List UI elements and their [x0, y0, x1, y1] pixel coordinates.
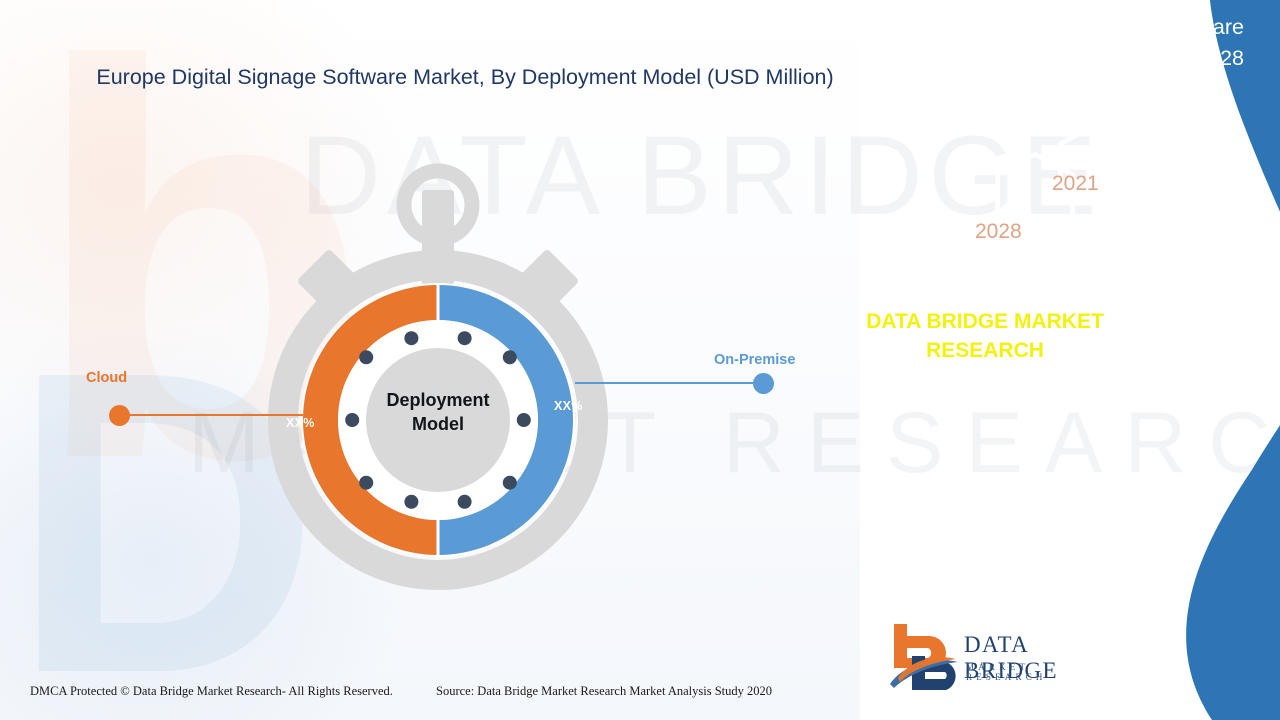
- panel-brand-line2: RESEARCH: [854, 337, 1116, 366]
- right-blue-panel: Europe Digital Signage Software Market, …: [820, 0, 1280, 720]
- footer-source: Source: Data Bridge Market Research Mark…: [436, 684, 772, 699]
- stopwatch-donut-chart: [238, 150, 638, 610]
- callout-label-cloud: Cloud: [86, 370, 127, 386]
- donut-split-bottom: [437, 518, 440, 557]
- on-premise-percent-label: XX%: [554, 399, 583, 413]
- donut-center-label: Deployment Model: [338, 388, 538, 437]
- footer-copyright: DMCA Protected © Data Bridge Market Rese…: [30, 684, 393, 699]
- tick-dot: [503, 350, 517, 364]
- tick-dot: [404, 331, 418, 345]
- callout-leader-line-on-premise: [575, 382, 765, 384]
- tick-dot: [359, 350, 373, 364]
- cloud-percent-label: XX%: [286, 416, 315, 430]
- center-label-line1: Deployment: [338, 388, 538, 412]
- tick-dot: [503, 476, 517, 490]
- hexagon-pair: [946, 128, 1246, 278]
- tick-dot: [359, 476, 373, 490]
- hexagon-label-2021: 2021: [1052, 172, 1099, 196]
- chart-title: Europe Digital Signage Software Market, …: [70, 62, 860, 93]
- callout-marker-cloud: [109, 405, 130, 426]
- callout-label-on-premise: On-Premise: [714, 352, 795, 368]
- donut-split-top: [437, 283, 440, 322]
- data-bridge-logo: DATA BRIDGE MARKET RESEARCH: [884, 622, 1114, 694]
- logo-tagline: MARKET RESEARCH: [966, 662, 1114, 682]
- infographic-canvas: b D DATA BRIDGE MARKET RESEARCH Europe D…: [0, 0, 1280, 720]
- panel-brand-name: DATA BRIDGE MARKET RESEARCH: [820, 308, 1150, 366]
- tick-dot: [458, 331, 472, 345]
- tick-dot: [404, 495, 418, 509]
- hexagon-label-2028: 2028: [975, 220, 1022, 244]
- panel-brand-line1: DATA BRIDGE MARKET: [854, 308, 1116, 337]
- tick-dot: [458, 495, 472, 509]
- footer-bar: DMCA Protected © Data Bridge Market Rese…: [0, 684, 860, 714]
- callout-leader-line-cloud: [119, 414, 303, 416]
- panel-title: Europe Digital Signage Software Market, …: [864, 12, 1244, 73]
- callout-marker-on-premise: [753, 373, 774, 394]
- center-label-line2: Model: [338, 412, 538, 436]
